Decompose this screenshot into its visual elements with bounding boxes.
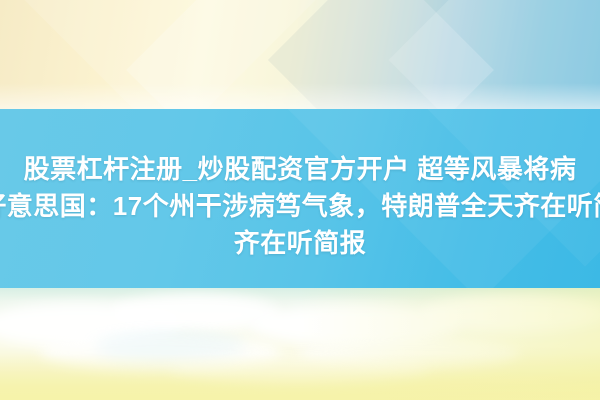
sky-cloud-panel: [0, 288, 600, 400]
headline-line-2: 好意思国：17个州干涉病笃气象，特朗普全天齐在听简: [0, 188, 600, 225]
top-gradient-panel: [0, 0, 600, 109]
sky-bottom-fade: [0, 354, 600, 400]
headline-band: 股票杠杆注册_炒股配资官方开户 超等风暴将病 好意思国：17个州干涉病笃气象，特…: [0, 109, 600, 288]
banner-graphic: 股票杠杆注册_炒股配资官方开户 超等风暴将病 好意思国：17个州干涉病笃气象，特…: [0, 0, 600, 400]
headline-text-block: 股票杠杆注册_炒股配资官方开户 超等风暴将病 好意思国：17个州干涉病笃气象，特…: [0, 151, 600, 262]
headline-line-1: 股票杠杆注册_炒股配资官方开户 超等风暴将病: [0, 151, 600, 188]
top-panel-haze: [0, 83, 600, 109]
headline-line-3: 齐在听简报: [0, 225, 600, 262]
